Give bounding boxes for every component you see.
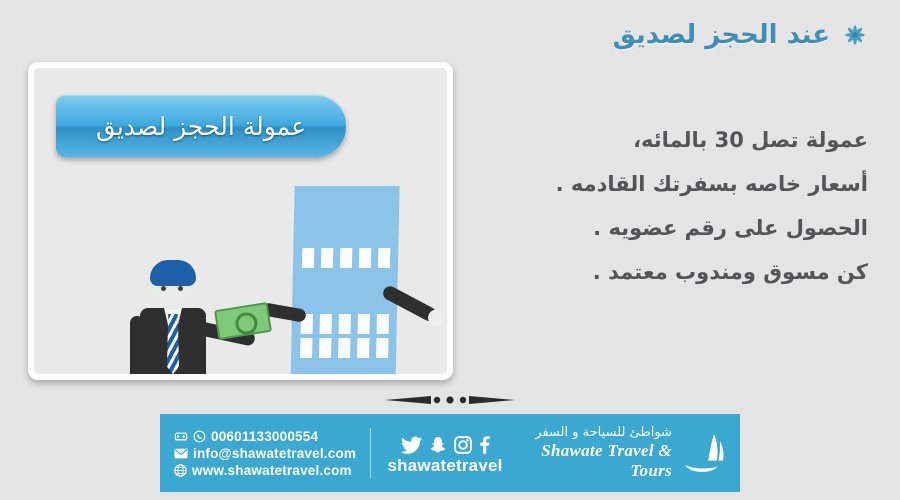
sailboat-icon [680, 429, 726, 477]
ribbon-banner: عمولة الحجز لصديق [56, 95, 346, 157]
page-title: عند الحجز لصديق [613, 20, 830, 50]
ornament-divider [385, 392, 515, 408]
social-handle: shawatetravel [385, 456, 505, 476]
contact-phone-row[interactable]: 00601133000554 [174, 429, 356, 444]
website-url: www.shawatetravel.com [192, 463, 352, 478]
instagram-icon[interactable] [454, 436, 472, 454]
logo-english-name: Shawate Travel & Tours [521, 441, 672, 481]
contact-email-row[interactable]: info@shawatetravel.com [174, 446, 356, 461]
phone-number: 00601133000554 [211, 429, 318, 444]
hair [150, 260, 196, 286]
envelope-icon [174, 448, 188, 459]
ribbon-label: عمولة الحجز لصديق [96, 112, 306, 141]
email-address: info@shawatetravel.com [193, 446, 356, 461]
illustration-frame: عمولة الحجز لصديق [28, 62, 453, 380]
list-item: كن مسوق ومندوب معتمد . [448, 250, 868, 294]
snapchat-icon[interactable] [429, 436, 447, 454]
contact-website-row[interactable]: www.shawatetravel.com [174, 463, 356, 478]
list-item: أسعار خاصه بسفرتك القادمه . [448, 162, 868, 206]
necktie [167, 314, 179, 374]
footer-bar: 00601133000554 info@shawatetravel.com [160, 414, 740, 492]
headline-block: عند الحجز لصديق [613, 20, 868, 50]
facebook-icon[interactable] [479, 436, 490, 454]
footer-divider [370, 428, 371, 478]
illustration-canvas: عمولة الحجز لصديق [34, 68, 447, 374]
flower-star-icon [842, 22, 868, 48]
phone-icon [174, 430, 188, 443]
globe-icon [174, 464, 187, 477]
whatsapp-icon [193, 430, 206, 443]
social-block: shawatetravel [385, 430, 505, 476]
logo-arabic-name: شواطئ للسياحة و السفر [521, 425, 672, 440]
benefit-list: عمولة تصل 30 بالمائه، أسعار خاصه بسفرتك … [448, 118, 868, 294]
office-building-graphic [289, 186, 399, 374]
twitter-icon[interactable] [401, 436, 422, 454]
list-item: الحصول على رقم عضويه . [448, 206, 868, 250]
list-item: عمولة تصل 30 بالمائه، [448, 118, 868, 162]
poster-canvas: عمولة الحجز لصديق [0, 0, 900, 500]
contact-block: 00601133000554 info@shawatetravel.com [174, 429, 356, 478]
company-logo: شواطئ للسياحة و السفر Shawate Travel & T… [521, 425, 726, 481]
